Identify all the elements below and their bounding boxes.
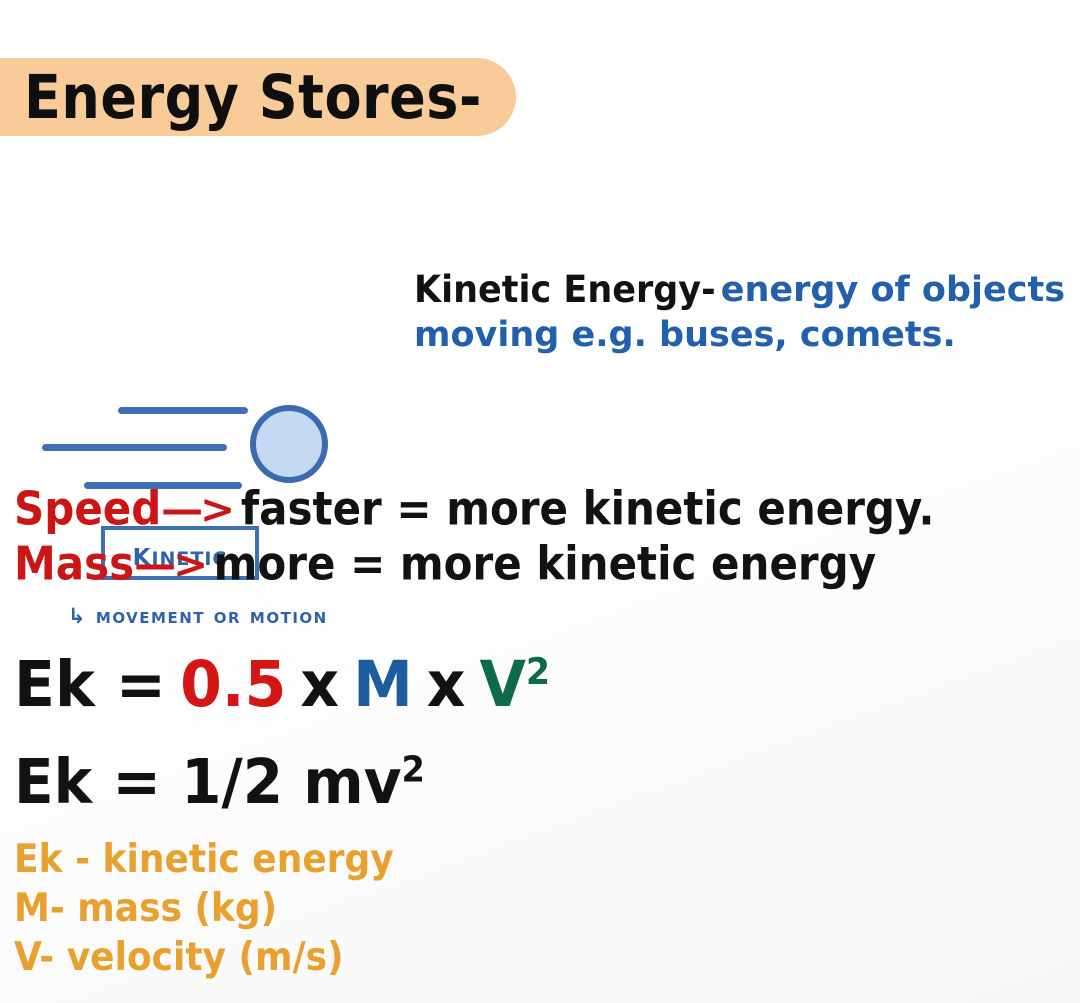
formula-primary: Ek =0.5xMxV2 xyxy=(14,648,550,722)
page-title: Energy Stores- xyxy=(24,62,482,133)
rule-row-speed: Speed —> faster = more kinetic energy. xyxy=(14,484,934,533)
rule-value-mass: more = more kinetic energy xyxy=(214,537,876,591)
formula-lhs: Ek = xyxy=(14,648,166,722)
formula-velocity-exponent: 2 xyxy=(526,651,550,693)
symbol-key-block: Ek - kinetic energy M- mass (kg) V- velo… xyxy=(14,836,394,983)
formula-mass-symbol: M xyxy=(353,648,413,722)
rule-key-mass: Mass xyxy=(14,537,134,591)
arrow-right-icon: —> xyxy=(132,542,215,588)
definition-block: Kinetic Energy- energy of objects moving… xyxy=(414,268,1074,358)
arrow-right-icon: —> xyxy=(159,487,242,533)
title-highlight-bar: Energy Stores- xyxy=(0,58,516,136)
rule-key-speed: Speed xyxy=(14,482,161,536)
formula-times-1: x xyxy=(300,648,339,722)
formula-velocity-symbol: V xyxy=(479,648,525,722)
formula-secondary-exponent: 2 xyxy=(402,749,425,790)
legend-item-m: M- mass (kg) xyxy=(14,883,394,936)
formula-secondary-text: Ek = 1/2 mv xyxy=(14,746,402,818)
rule-row-mass: Mass —> more = more kinetic energy xyxy=(14,539,934,588)
notes-page: Energy Stores- Kinetic ↳ Movement or Mot… xyxy=(0,0,1080,1003)
motion-line-middle-icon xyxy=(42,444,227,451)
legend-item-v: V- velocity (m/s) xyxy=(14,932,394,985)
rules-block: Speed —> faster = more kinetic energy. M… xyxy=(14,484,934,594)
kinetic-diagram: Kinetic ↳ Movement or Motion xyxy=(0,190,400,460)
formula-secondary: Ek = 1/2 mv2 xyxy=(14,746,425,818)
page-title-container: Energy Stores- xyxy=(0,58,516,136)
formula-times-2: x xyxy=(427,648,466,722)
definition-term: Kinetic Energy- xyxy=(414,266,716,314)
moving-ball-icon xyxy=(250,405,328,483)
diagram-caption: ↳ Movement or Motion xyxy=(68,604,328,628)
motion-line-top-icon xyxy=(118,407,248,414)
legend-item-ek: Ek - kinetic energy xyxy=(14,834,394,887)
rule-value-speed: faster = more kinetic energy. xyxy=(241,482,935,536)
formula-coefficient: 0.5 xyxy=(180,648,286,722)
